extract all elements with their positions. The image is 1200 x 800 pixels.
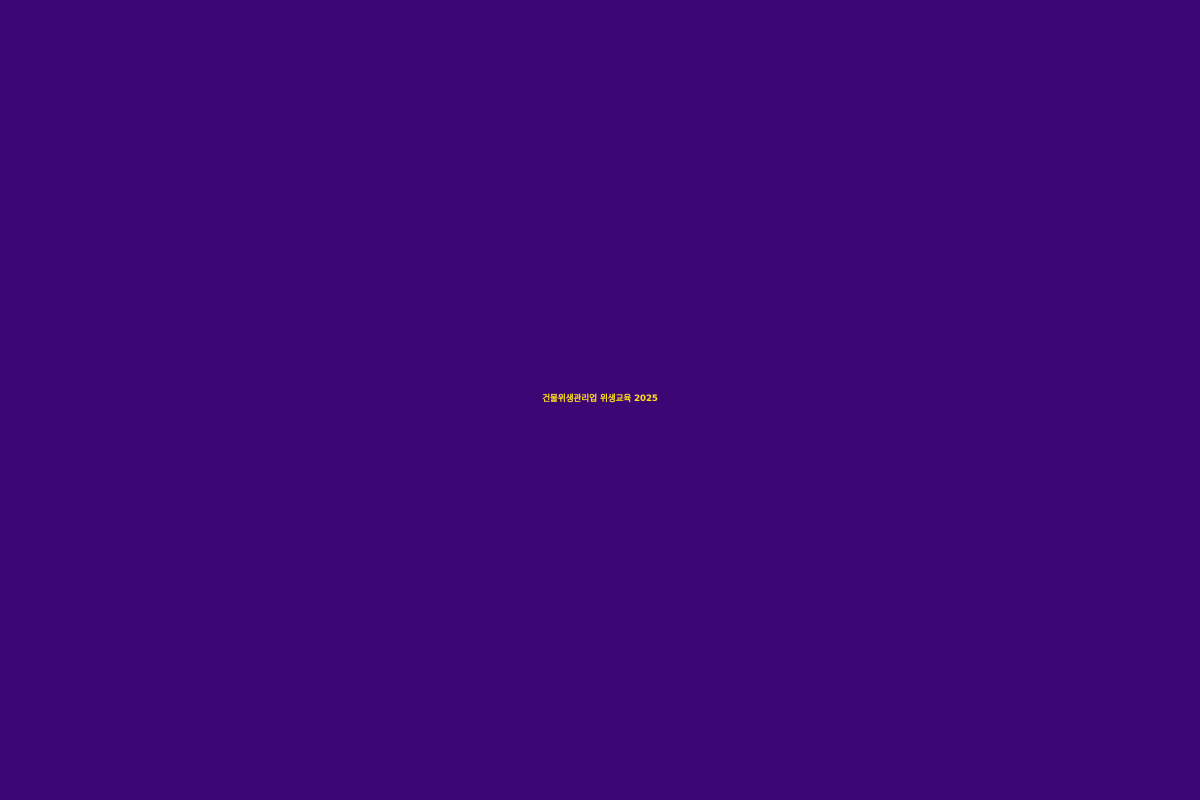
- banner-title-line-1: 건물위생관리업 위생교육 2025: [0, 394, 1200, 405]
- thumbnail-banner: 건물위생관리업 위생교육 2025 최신 가이드로 창업과 운영의 필수 체크리…: [0, 0, 1200, 800]
- banner-title-block: 건물위생관리업 위생교육 2025 최신 가이드로 창업과 운영의 필수 체크리…: [0, 394, 1200, 405]
